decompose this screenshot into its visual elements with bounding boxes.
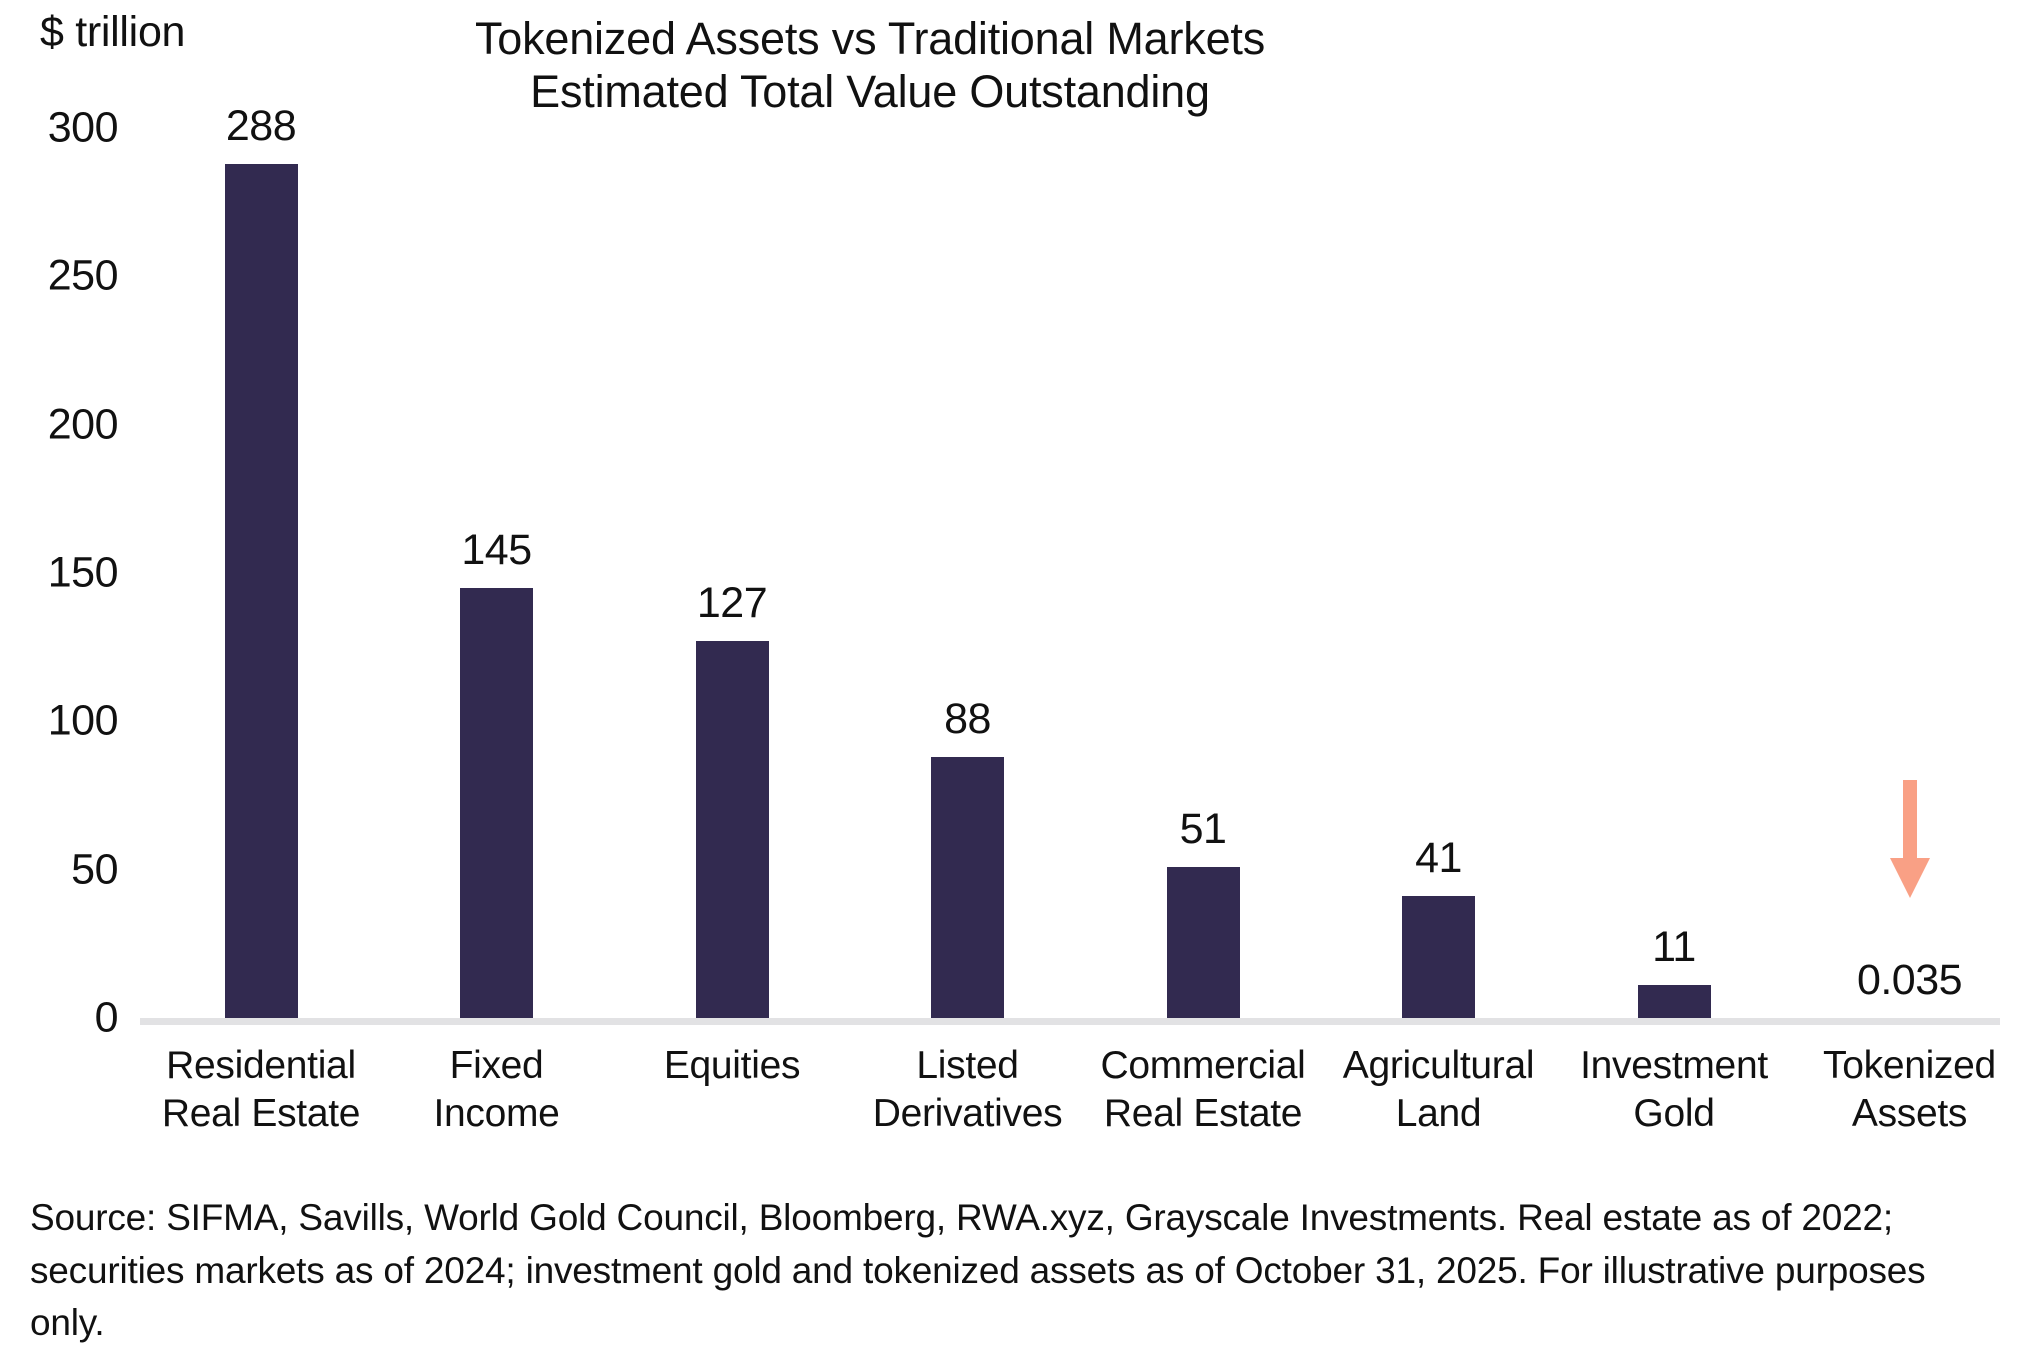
bar-value-label: 51	[1073, 805, 1333, 854]
x-axis-label-line: Gold	[1539, 1090, 1809, 1138]
y-axis-tick-0: 0	[0, 994, 118, 1043]
x-axis-label: ListedDerivatives	[833, 1042, 1103, 1137]
bar-value-label: 145	[367, 526, 627, 575]
x-axis-label: TokenizedAssets	[1775, 1042, 2017, 1137]
bar	[460, 588, 533, 1018]
source-footnote: Source: SIFMA, Savills, World Gold Counc…	[30, 1192, 1990, 1350]
bar	[1638, 985, 1711, 1018]
down-arrow-icon	[1880, 780, 1940, 905]
bar-value-label: 0.035	[1780, 956, 2017, 1005]
bar	[1167, 867, 1240, 1018]
y-axis-tick-250: 250	[0, 252, 118, 301]
x-axis-label-line: Fixed	[362, 1042, 632, 1090]
y-axis-tick-100: 100	[0, 697, 118, 746]
x-axis-label-line: Real Estate	[1068, 1090, 1338, 1138]
x-axis-label-line: Investment	[1539, 1042, 1809, 1090]
bar-value-label: 127	[602, 579, 862, 628]
x-axis-baseline	[140, 1018, 2000, 1025]
x-axis-label-line: Income	[362, 1090, 632, 1138]
chart-figure: $ trillion Tokenized Assets vs Tradition…	[0, 0, 2017, 1367]
y-axis-tick-150: 150	[0, 549, 118, 598]
bar-value-label: 88	[838, 695, 1098, 744]
x-axis-label-line: Land	[1304, 1090, 1574, 1138]
x-axis-label-line: Equities	[597, 1042, 867, 1090]
plot-area: 300250200150100500 288145127885141110.03…	[0, 0, 2017, 1130]
x-axis-label: FixedIncome	[362, 1042, 632, 1137]
x-axis-label-line: Listed	[833, 1042, 1103, 1090]
bar	[225, 164, 298, 1018]
x-axis-label-line: Residential	[126, 1042, 396, 1090]
bar	[1402, 896, 1475, 1018]
x-axis-label: AgriculturalLand	[1304, 1042, 1574, 1137]
y-axis-tick-300: 300	[0, 104, 118, 153]
x-axis-label-line: Derivatives	[833, 1090, 1103, 1138]
x-axis-label: ResidentialReal Estate	[126, 1042, 396, 1137]
y-axis-tick-50: 50	[0, 845, 118, 894]
x-axis-label-line: Commercial	[1068, 1042, 1338, 1090]
bar	[696, 641, 769, 1018]
bar	[931, 757, 1004, 1018]
bar-value-label: 41	[1309, 834, 1569, 883]
x-axis-label-line: Real Estate	[126, 1090, 396, 1138]
y-axis-tick-200: 200	[0, 400, 118, 449]
x-axis-label: Equities	[597, 1042, 867, 1090]
x-axis-label-line: Assets	[1775, 1090, 2017, 1138]
bar-value-label: 288	[131, 102, 391, 151]
x-axis-label: CommercialReal Estate	[1068, 1042, 1338, 1137]
x-axis-label: InvestmentGold	[1539, 1042, 1809, 1137]
x-axis-label-line: Tokenized	[1775, 1042, 2017, 1090]
bar-value-label: 11	[1544, 923, 1804, 972]
x-axis-label-line: Agricultural	[1304, 1042, 1574, 1090]
